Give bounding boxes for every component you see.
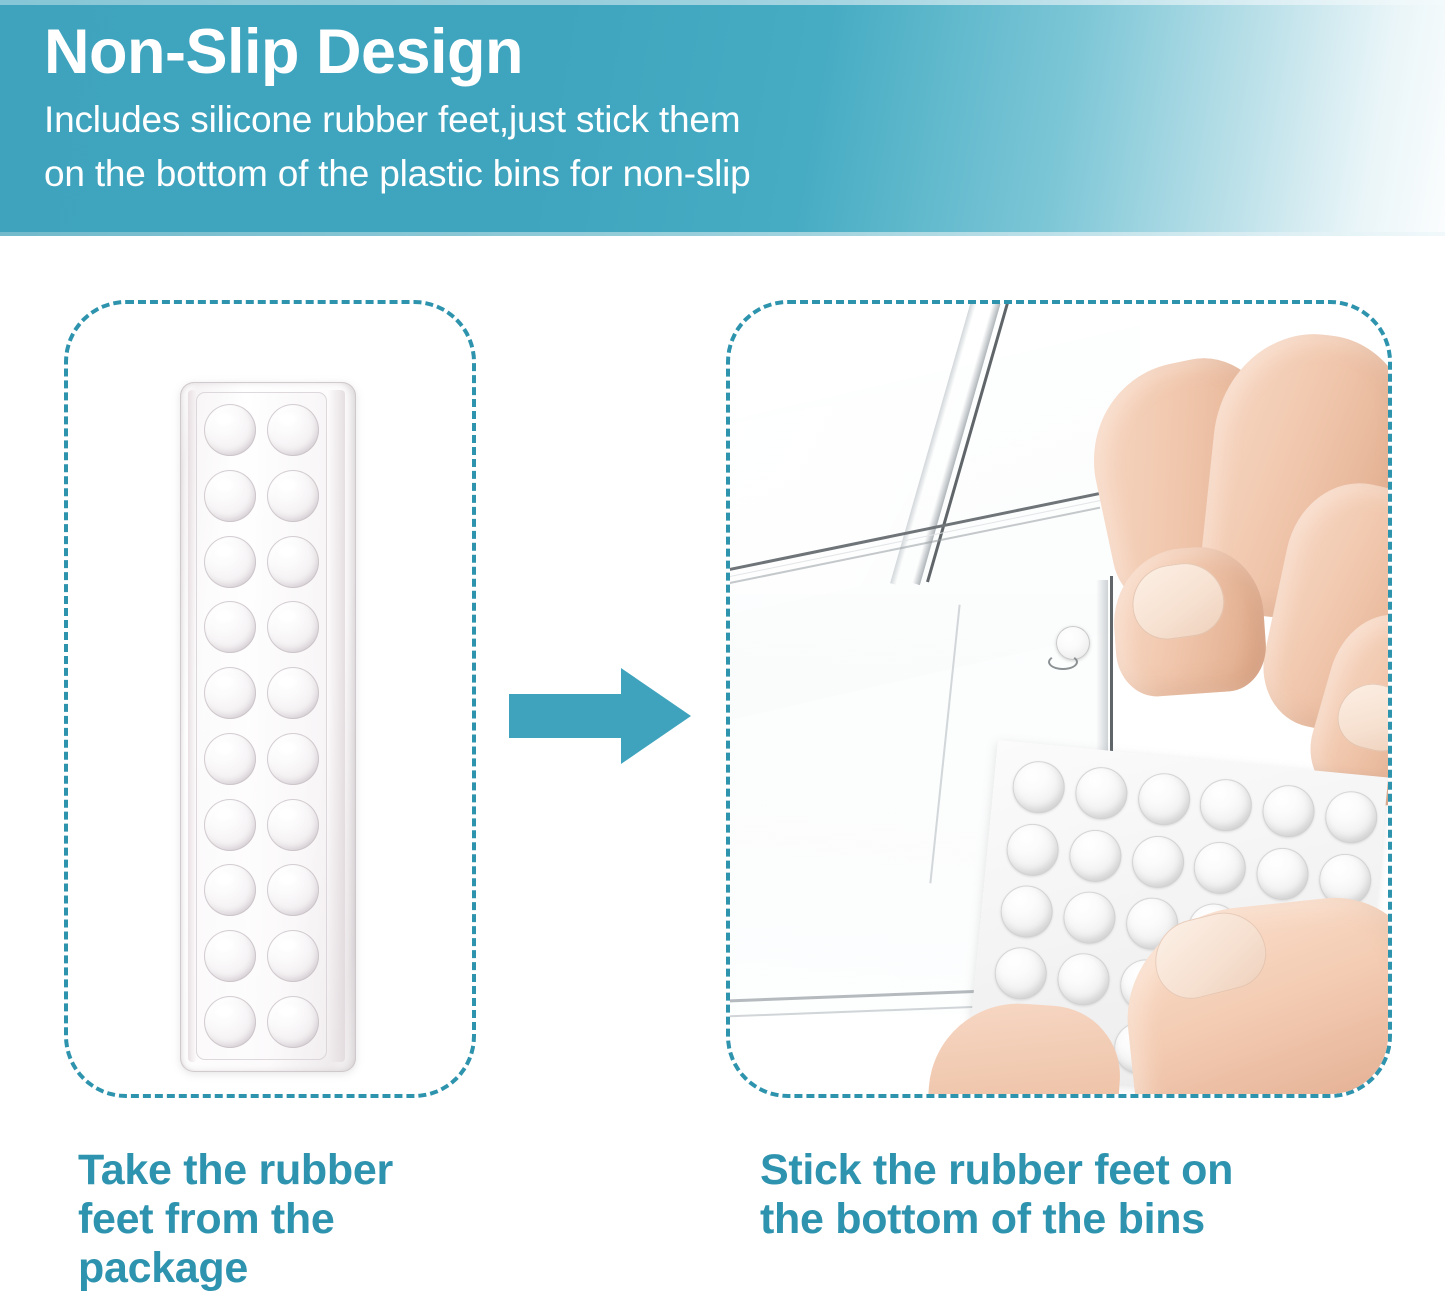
- clear-bumper-dome: [267, 404, 319, 456]
- white-bumper-dome: [1322, 789, 1379, 846]
- clear-bumper-dome: [267, 667, 319, 719]
- clear-bumper-dome: [267, 536, 319, 588]
- step-2-caption-line-2: the bottom of the bins: [760, 1195, 1400, 1244]
- banner-bottom-strip: [0, 232, 1445, 236]
- clear-bumper-dome: [267, 470, 319, 522]
- clear-bumper-dome: [204, 470, 256, 522]
- clear-bumper-dome: [204, 930, 256, 982]
- applied-rubber-foot-shadow: [1048, 654, 1078, 670]
- clear-bumper-dome: [267, 864, 319, 916]
- step-1-caption: Take the rubber feet from the package: [78, 1146, 548, 1293]
- clear-bumper-dome: [204, 733, 256, 785]
- white-bumper-dome: [1005, 821, 1062, 878]
- step-1-image-clip: [68, 304, 472, 1094]
- clear-bumper-dome: [267, 799, 319, 851]
- step-1-image-panel: [64, 300, 476, 1098]
- clear-bumper-dome: [267, 996, 319, 1048]
- clear-bumper-dome: [204, 996, 256, 1048]
- step-2-caption: Stick the rubber feet on the bottom of t…: [760, 1146, 1400, 1244]
- white-bumper-dome: [1073, 765, 1130, 822]
- step-1-caption-line-2: feet from the: [78, 1195, 548, 1244]
- page-title: Non-Slip Design: [44, 14, 1445, 90]
- white-bumper-dome: [1192, 839, 1249, 896]
- blister-right-edge: [327, 390, 345, 1062]
- hand-upper: [1090, 334, 1388, 804]
- clear-bumper-dome: [204, 864, 256, 916]
- white-bumper-dome: [1198, 777, 1255, 834]
- banner-subtitle-line-1: Includes silicone rubber feet,just stick…: [44, 96, 1445, 144]
- header-banner: Non-Slip Design Includes silicone rubber…: [0, 0, 1445, 236]
- bin-and-hand-scene: [730, 304, 1388, 1094]
- white-bumper-dome: [999, 883, 1056, 940]
- clear-bumper-dome: [204, 799, 256, 851]
- step-1-caption-line-1: Take the rubber: [78, 1146, 548, 1195]
- white-bumper-dome: [1011, 759, 1068, 816]
- banner-text-block: Non-Slip Design Includes silicone rubber…: [44, 14, 1445, 198]
- clear-bumper-dome: [204, 667, 256, 719]
- right-arrow-icon: [509, 668, 691, 764]
- white-bumper-dome: [1061, 889, 1118, 946]
- clear-bumper-dome: [204, 536, 256, 588]
- clear-bumper-grid: [200, 398, 323, 1054]
- white-bumper-dome: [1260, 783, 1317, 840]
- step-2-caption-line-1: Stick the rubber feet on: [760, 1146, 1400, 1195]
- white-bumper-dome: [1055, 951, 1112, 1008]
- banner-subtitle-line-2: on the bottom of the plastic bins for no…: [44, 150, 1445, 198]
- white-bumper-dome: [1135, 771, 1192, 828]
- clear-bumper-dome: [267, 601, 319, 653]
- step-2-image-panel: [726, 300, 1392, 1098]
- clear-bumper-dome: [267, 930, 319, 982]
- clear-bumper-dome: [204, 601, 256, 653]
- white-bumper-dome: [1067, 827, 1124, 884]
- white-bumper-dome: [993, 945, 1050, 1002]
- clear-bumper-dome: [267, 733, 319, 785]
- clear-bumper-dome: [204, 404, 256, 456]
- white-bumper-dome: [1129, 833, 1186, 890]
- step-1-caption-line-3: package: [78, 1244, 548, 1293]
- banner-top-strip: [0, 0, 1445, 5]
- blister-pack: [180, 382, 356, 1072]
- white-bumper-dome: [1254, 845, 1311, 902]
- step-2-image-clip: [730, 304, 1388, 1094]
